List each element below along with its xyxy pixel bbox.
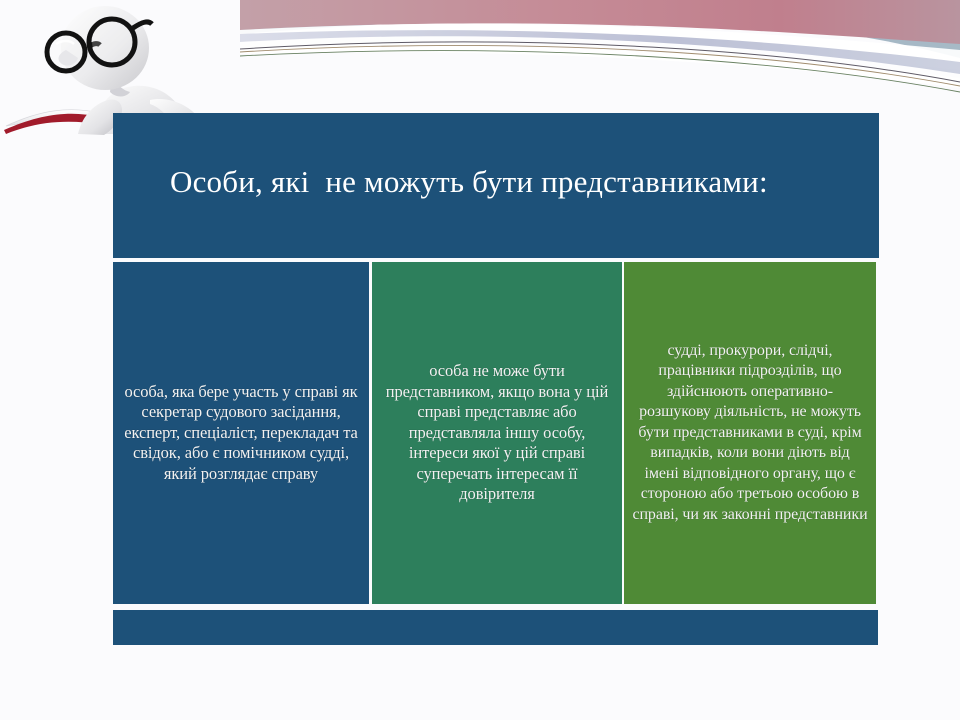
panel-1-text: особа, яка бере участь у справі як секре… <box>121 382 361 485</box>
panel-2-text: особа не може бути представником, якщо в… <box>380 361 614 505</box>
panel-3-text: судді, прокурори, слідчі, працівники під… <box>632 341 868 526</box>
content-panel-1[interactable]: особа, яка бере участь у справі як секре… <box>113 262 369 604</box>
content-panel-3[interactable]: судді, прокурори, слідчі, працівники під… <box>624 262 876 604</box>
content-panel-2[interactable]: особа не може бути представником, якщо в… <box>372 262 622 604</box>
page-title: Особи, які не можуть бути представниками… <box>170 162 870 202</box>
bottom-band <box>113 610 878 645</box>
abstract-ribbon-wave-decoration <box>240 0 960 108</box>
title-band: Особи, які не можуть бути представниками… <box>113 113 879 258</box>
slide-canvas: Особи, які не можуть бути представниками… <box>0 0 960 720</box>
